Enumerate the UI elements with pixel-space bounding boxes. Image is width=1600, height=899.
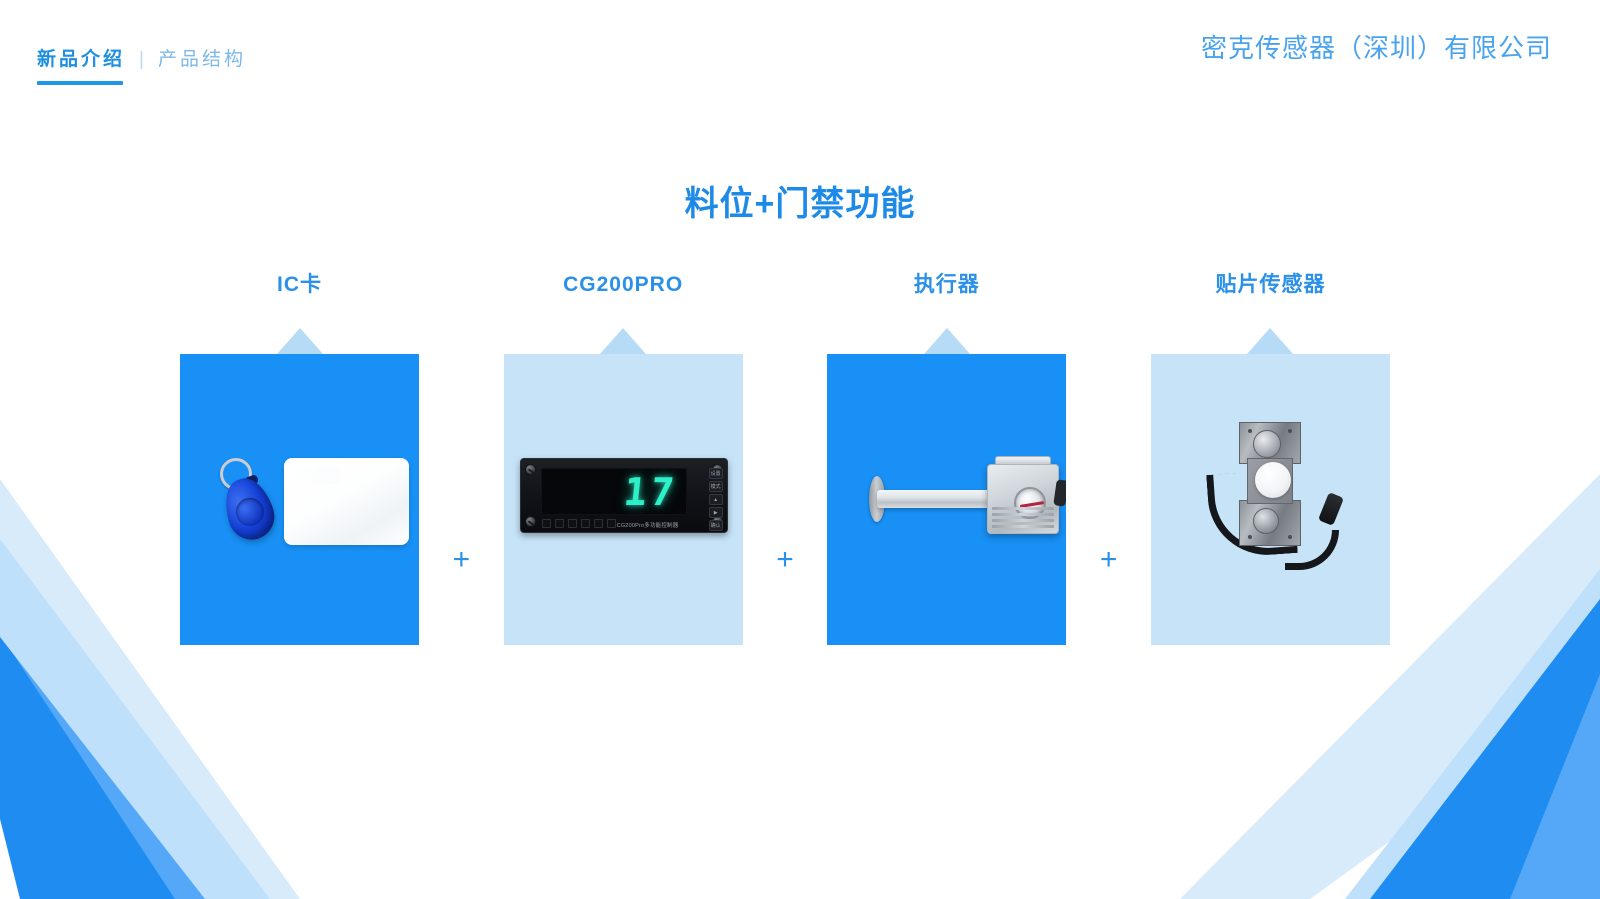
product-item-actuator[interactable]: 执行器 bbox=[827, 270, 1066, 645]
product-row: IC卡 + CG200PRO bbox=[180, 270, 1390, 645]
sensor-connector-plug bbox=[1318, 492, 1344, 526]
patch-sensor-photo bbox=[1197, 410, 1347, 595]
mount-hole bbox=[1288, 429, 1292, 433]
tab-separator: | bbox=[139, 49, 144, 71]
actuator-body bbox=[987, 464, 1059, 534]
plus-separator-3: + bbox=[1094, 543, 1124, 577]
led-icon bbox=[555, 519, 564, 528]
company-name: 密克传感器（深圳）有限公司 bbox=[1201, 28, 1552, 65]
product-item-cg200pro[interactable]: CG200PRO 17 设置 模式 ▲ ▶ 确认 bbox=[504, 270, 743, 645]
active-tab-underline bbox=[37, 81, 123, 85]
product-label: CG200PRO bbox=[563, 270, 683, 300]
product-label: IC卡 bbox=[277, 270, 322, 300]
mount-hole bbox=[1288, 535, 1292, 539]
product-image-actuator bbox=[827, 354, 1066, 645]
mount-hole bbox=[1248, 429, 1252, 433]
product-label: 执行器 bbox=[914, 270, 980, 300]
page-title: 料位+门禁功能 bbox=[0, 176, 1600, 225]
product-label: 贴片传感器 bbox=[1215, 270, 1325, 300]
actuator-shaft bbox=[877, 490, 1001, 508]
indicator-led-row bbox=[542, 519, 616, 528]
white-ic-card bbox=[284, 458, 409, 545]
product-image-cg200pro: 17 设置 模式 ▲ ▶ 确认 bbox=[504, 354, 743, 645]
product-item-patch-sensor[interactable]: 贴片传感器 bbox=[1151, 270, 1390, 645]
sensor-upper-boss bbox=[1253, 430, 1281, 458]
pointer-triangle-icon bbox=[924, 328, 970, 354]
panel-brand-text: CG200Pro多功能控制器 bbox=[617, 521, 679, 529]
mount-hole bbox=[1248, 535, 1252, 539]
nav-tabs: 新品介绍 | 产品结构 bbox=[37, 44, 246, 71]
sensor-white-disc bbox=[1255, 462, 1291, 498]
actuator-photo bbox=[847, 450, 1052, 555]
lcd-value: 17 bbox=[622, 472, 680, 512]
actuator-connector bbox=[1054, 479, 1067, 506]
actuator-heat-fins bbox=[992, 507, 1054, 529]
led-icon bbox=[542, 519, 551, 528]
plus-separator-1: + bbox=[446, 543, 476, 577]
plus-separator-2: + bbox=[770, 543, 800, 577]
product-item-ic-card[interactable]: IC卡 bbox=[180, 270, 419, 645]
controller-panel: 17 设置 模式 ▲ ▶ 确认 bbox=[520, 458, 728, 533]
led-icon bbox=[607, 519, 616, 528]
ic-card-photo bbox=[200, 454, 400, 559]
panel-button-right[interactable]: ▶ bbox=[709, 507, 723, 518]
pointer-triangle-icon bbox=[1247, 328, 1293, 354]
panel-button-up[interactable]: ▲ bbox=[709, 494, 723, 505]
panel-button-confirm[interactable]: 确认 bbox=[709, 520, 723, 531]
pointer-triangle-icon bbox=[600, 328, 646, 354]
led-icon bbox=[568, 519, 577, 528]
slide-root: 新品介绍 | 产品结构 密克传感器（深圳）有限公司 料位+门禁功能 IC卡 + bbox=[0, 0, 1600, 899]
led-icon bbox=[594, 519, 603, 528]
screw-icon bbox=[525, 464, 536, 475]
lcd-screen: 17 bbox=[541, 468, 687, 515]
tab-product-structure[interactable]: 产品结构 bbox=[158, 44, 246, 71]
product-image-patch-sensor bbox=[1151, 354, 1390, 645]
product-image-ic-card bbox=[180, 354, 419, 645]
panel-button-column[interactable]: 设置 模式 ▲ ▶ 确认 bbox=[709, 468, 723, 531]
page-header: 新品介绍 | 产品结构 密克传感器（深圳）有限公司 bbox=[0, 0, 1600, 100]
panel-button-mode[interactable]: 模式 bbox=[709, 481, 723, 492]
screw-icon bbox=[525, 516, 536, 527]
led-icon bbox=[581, 519, 590, 528]
panel-button-set[interactable]: 设置 bbox=[709, 468, 723, 479]
sensor-lower-boss bbox=[1253, 508, 1279, 534]
tab-new-product[interactable]: 新品介绍 bbox=[37, 44, 125, 71]
pointer-triangle-icon bbox=[277, 328, 323, 354]
